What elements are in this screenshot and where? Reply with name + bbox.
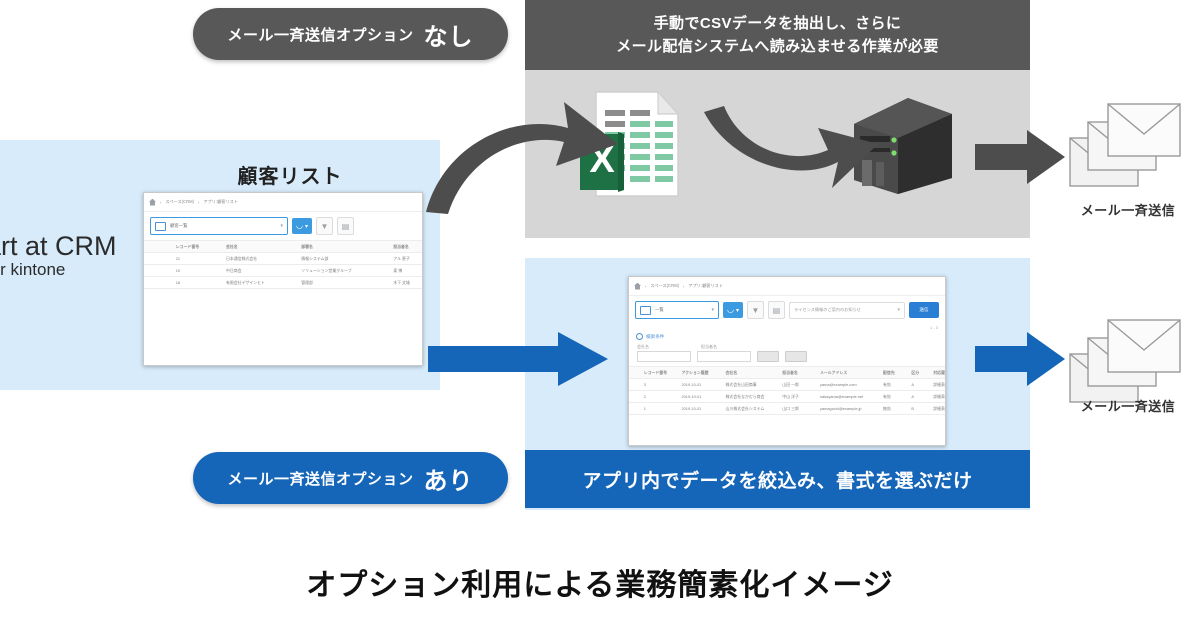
table-row[interactable]: 2 2019-10-01 株式会社なかむら商会 中山 洋子 nakayama@e…	[629, 391, 945, 403]
option-yes-lead: メール一斉送信オプション	[227, 468, 413, 489]
mail-template-selector[interactable]: ライセンス情報のご案内のお知らせ ▾	[789, 302, 905, 319]
manual-flow-header: 手動でCSVデータを抽出し、さらに メール配信システムへ読み込ませる作業が必要	[525, 0, 1030, 70]
option-yes-value: あり	[424, 461, 474, 496]
search-field-labels: 会社名 担当者名	[629, 342, 945, 350]
kintone-customer-list-screenshot[interactable]: › スペース(CRM) › アプリ:顧客リスト 顧客一覧 ▾ ◡ ▾ ▼ ▤ レ…	[143, 192, 423, 366]
cell-record-no: 1	[642, 403, 680, 415]
option-none-pill: メール一斉送信オプション なし	[193, 8, 508, 60]
cell-department: 管理部	[300, 277, 392, 289]
brand-line-2: for kintone	[0, 260, 146, 280]
col-select	[144, 241, 174, 253]
cell-category: A	[910, 379, 932, 391]
table-header-row: レコード番号 アクション履歴 会社名 担当者名 メールアドレス 配信先 区分 対…	[629, 367, 945, 379]
row-select[interactable]	[629, 403, 642, 415]
customer-table: レコード番号 会社名 部署名 担当者名 21 日本通信株式会社 情報システム部 …	[144, 240, 422, 289]
chevron-down-icon: ▾	[897, 307, 900, 313]
cell-email: yamaguchi@example.jp	[819, 403, 882, 415]
breadcrumb-separator: ›	[645, 284, 646, 289]
cell-action-history: 2019-10-01	[680, 379, 724, 391]
col-record-no: レコード番号	[174, 241, 224, 253]
home-icon[interactable]	[149, 199, 156, 206]
cell-company: 株式会社なかむら商会	[724, 391, 781, 403]
search-inputs	[629, 350, 945, 366]
view-selector[interactable]: 顧客一覧 ▾	[150, 217, 288, 235]
search-label-company: 会社名	[637, 344, 649, 350]
table-header-row: レコード番号 会社名 部署名 担当者名	[144, 241, 422, 253]
mail-stack-icon-bottom	[1068, 316, 1188, 408]
arrow-curve-list-to-csv	[418, 92, 623, 217]
breadcrumb-item-space[interactable]: スペース(CRM)	[165, 199, 194, 205]
breadcrumb-separator-2: ›	[683, 284, 684, 289]
option-flow-banner: アプリ内でデータを絞込み、書式を選ぶだけ	[525, 450, 1030, 508]
view-selector-label: 顧客一覧	[170, 223, 188, 229]
chevron-down-icon: ▾	[280, 223, 283, 229]
brand-wordmark: art at CRM for kintone	[0, 232, 146, 281]
cell-department: ソリューション営業グループ	[300, 265, 392, 277]
cell-person: 東 博	[392, 265, 422, 277]
col-department: 部署名	[300, 241, 392, 253]
search-submit-button[interactable]	[757, 351, 779, 362]
search-input-company[interactable]	[637, 351, 691, 362]
toolbar: 顧客一覧 ▾ ◡ ▾ ▼ ▤	[144, 212, 422, 240]
cell-person: 山口 三郎	[781, 403, 819, 415]
list-view-icon	[640, 306, 651, 315]
graph-view-button[interactable]: ◡ ▾	[723, 302, 743, 318]
cell-category: A	[910, 391, 932, 403]
cell-action-history: 2019-10-01	[680, 391, 724, 403]
breadcrumb: › スペース(CRM) › アプリ:顧客リスト	[144, 193, 422, 212]
col-history: 対応履歴	[932, 367, 945, 379]
funnel-icon[interactable]: ▼	[747, 301, 764, 319]
table-row[interactable]: 3 2019-10-01 株式会社山田商事 山田 一郎 yama@example…	[629, 379, 945, 391]
table-row[interactable]: 18 有限会社デザインヒト 管理部 木下 文雄	[144, 277, 422, 289]
col-action-history: アクション履歴	[680, 367, 724, 379]
search-condition-label: 検索条件	[646, 334, 664, 340]
cell-destination: 有効	[882, 379, 910, 391]
search-icon	[636, 333, 643, 340]
breadcrumb-separator: ›	[160, 200, 161, 205]
chart-icon: ◡	[727, 306, 734, 314]
brand-line-1: art at CRM	[0, 232, 146, 260]
view-selector-label: 一覧	[655, 307, 664, 313]
view-selector[interactable]: 一覧 ▾	[635, 301, 719, 319]
graph-view-button[interactable]: ◡ ▾	[292, 218, 312, 234]
chart-icon: ◡	[296, 222, 303, 230]
search-input-person[interactable]	[697, 351, 751, 362]
mail-recipient-table: レコード番号 アクション履歴 会社名 担当者名 メールアドレス 配信先 区分 対…	[629, 366, 945, 415]
col-person: 担当者名	[781, 367, 819, 379]
breadcrumb-item-app[interactable]: アプリ:顧客リスト	[203, 199, 238, 205]
cell-category: B	[910, 403, 932, 415]
search-clear-button[interactable]	[785, 351, 807, 362]
cell-email: yama@example.com	[819, 379, 882, 391]
cell-record-no: 19	[174, 265, 224, 277]
graph-caret-icon: ▾	[736, 307, 739, 314]
row-select[interactable]	[629, 379, 642, 391]
cell-record-no: 2	[642, 391, 680, 403]
cell-history-link[interactable]: 詳細表示	[932, 403, 945, 415]
pager: 1 - 3	[629, 324, 945, 331]
home-icon[interactable]	[634, 283, 641, 290]
cell-destination: 無効	[882, 403, 910, 415]
row-select[interactable]	[144, 277, 174, 289]
cell-action-history: 2019-10-01	[680, 403, 724, 415]
option-none-value: なし	[424, 17, 474, 52]
chevron-down-icon: ▾	[711, 307, 714, 313]
cell-history-link[interactable]: 詳細表示	[932, 391, 945, 403]
graph-caret-icon: ▾	[305, 223, 308, 230]
arrow-server-to-mail	[975, 128, 1065, 186]
cell-company: 株式会社山田商事	[724, 379, 781, 391]
option-none-lead: メール一斉送信オプション	[227, 24, 413, 45]
export-icon[interactable]: ▤	[337, 217, 354, 235]
arrow-app-to-mail	[975, 330, 1065, 388]
col-category: 区分	[910, 367, 932, 379]
cell-history-link[interactable]: 詳細表示	[932, 379, 945, 391]
cell-person: 山田 一郎	[781, 379, 819, 391]
cell-person: アル 恵子	[392, 253, 422, 265]
row-select[interactable]	[144, 265, 174, 277]
breadcrumb: › スペース(CRM) › アプリ:顧客リスト	[629, 277, 945, 296]
arrow-list-to-app	[428, 330, 608, 388]
manual-flow-header-text: 手動でCSVデータを抽出し、さらに メール配信システムへ読み込ませる作業が必要	[616, 12, 939, 59]
funnel-icon[interactable]: ▼	[316, 217, 333, 235]
breadcrumb-item-app[interactable]: アプリ:顧客リスト	[688, 283, 723, 289]
cell-person: 中山 洋子	[781, 391, 819, 403]
mail-stack-icon-top	[1068, 100, 1188, 192]
export-icon[interactable]: ▤	[768, 301, 785, 319]
customer-list-title: 顧客リスト	[145, 160, 435, 189]
mail-send-label-top: メール一斉送信	[1053, 200, 1200, 219]
kintone-mail-app-screenshot[interactable]: › スペース(CRM) › アプリ:顧客リスト 一覧 ▾ ◡ ▾ ▼ ▤ ライセ…	[628, 276, 946, 446]
col-destination: 配信先	[882, 367, 910, 379]
option-yes-pill: メール一斉送信オプション あり	[193, 452, 508, 504]
row-select[interactable]	[629, 391, 642, 403]
mail-send-label-bottom: メール一斉送信	[1053, 396, 1200, 415]
search-condition-header[interactable]: 検索条件	[629, 331, 945, 342]
manual-flow-header-line-1: 手動でCSVデータを抽出し、さらに	[616, 12, 939, 35]
cell-company: 中日商会	[225, 265, 300, 277]
row-select[interactable]	[144, 253, 174, 265]
breadcrumb-item-space[interactable]: スペース(CRM)	[650, 283, 679, 289]
col-select	[629, 367, 642, 379]
col-record-no: レコード番号	[642, 367, 680, 379]
table-row[interactable]: 1 2019-10-01 山川株式会社システム 山口 三郎 yamaguchi@…	[629, 403, 945, 415]
cell-company: 有限会社デザインヒト	[225, 277, 300, 289]
table-row[interactable]: 21 日本通信株式会社 情報システム部 アル 恵子	[144, 253, 422, 265]
col-email: メールアドレス	[819, 367, 882, 379]
col-company: 会社名	[724, 367, 781, 379]
cell-department: 情報システム部	[300, 253, 392, 265]
manual-flow-header-line-2: メール配信システムへ読み込ませる作業が必要	[616, 35, 939, 58]
list-view-icon	[155, 222, 166, 231]
mail-template-value: ライセンス情報のご案内のお知らせ	[794, 307, 861, 313]
table-row[interactable]: 19 中日商会 ソリューション営業グループ 東 博	[144, 265, 422, 277]
send-mail-button[interactable]: 送信	[909, 302, 939, 318]
cell-record-no: 21	[174, 253, 224, 265]
figure-caption: オプション利用による業務簡素化イメージ	[0, 560, 1200, 604]
cell-email: nakayama@example.net	[819, 391, 882, 403]
cell-company: 日本通信株式会社	[225, 253, 300, 265]
cell-destination: 有効	[882, 391, 910, 403]
toolbar: 一覧 ▾ ◡ ▾ ▼ ▤ ライセンス情報のご案内のお知らせ ▾ 送信	[629, 296, 945, 324]
arrow-curve-csv-to-server	[700, 92, 880, 207]
cell-company: 山川株式会社システム	[724, 403, 781, 415]
col-company: 会社名	[225, 241, 300, 253]
cell-record-no: 3	[642, 379, 680, 391]
option-flow-banner-text: アプリ内でデータを絞込み、書式を選ぶだけ	[582, 466, 972, 493]
search-label-person: 担当者名	[701, 344, 717, 350]
cell-record-no: 18	[174, 277, 224, 289]
breadcrumb-separator-2: ›	[198, 200, 199, 205]
col-person: 担当者名	[392, 241, 422, 253]
cell-person: 木下 文雄	[392, 277, 422, 289]
